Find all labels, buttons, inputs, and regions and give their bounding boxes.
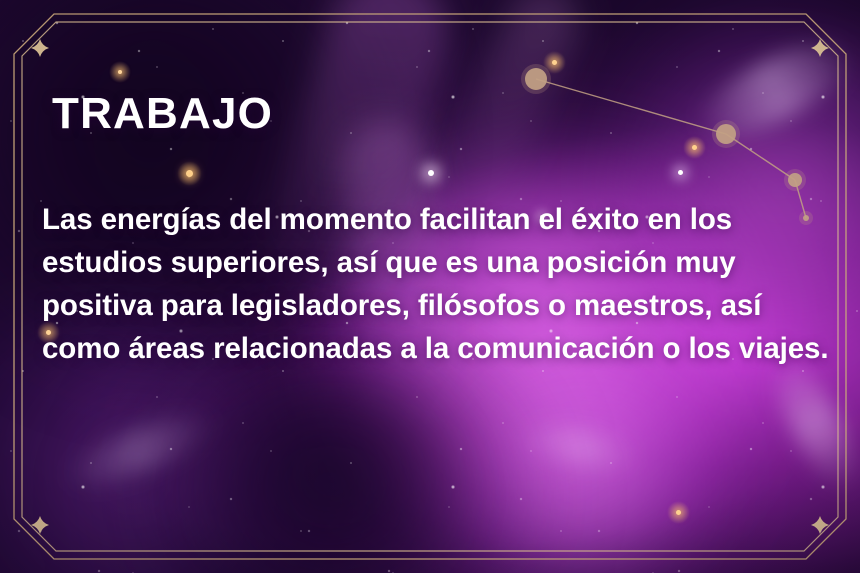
horoscope-card: TRABAJO Las energías del momento facilit… [0, 0, 860, 573]
page-title: TRABAJO [52, 92, 273, 136]
text-content: TRABAJO Las energías del momento facilit… [0, 0, 860, 573]
body-paragraph: Las energías del momento facilitan el éx… [42, 198, 832, 370]
